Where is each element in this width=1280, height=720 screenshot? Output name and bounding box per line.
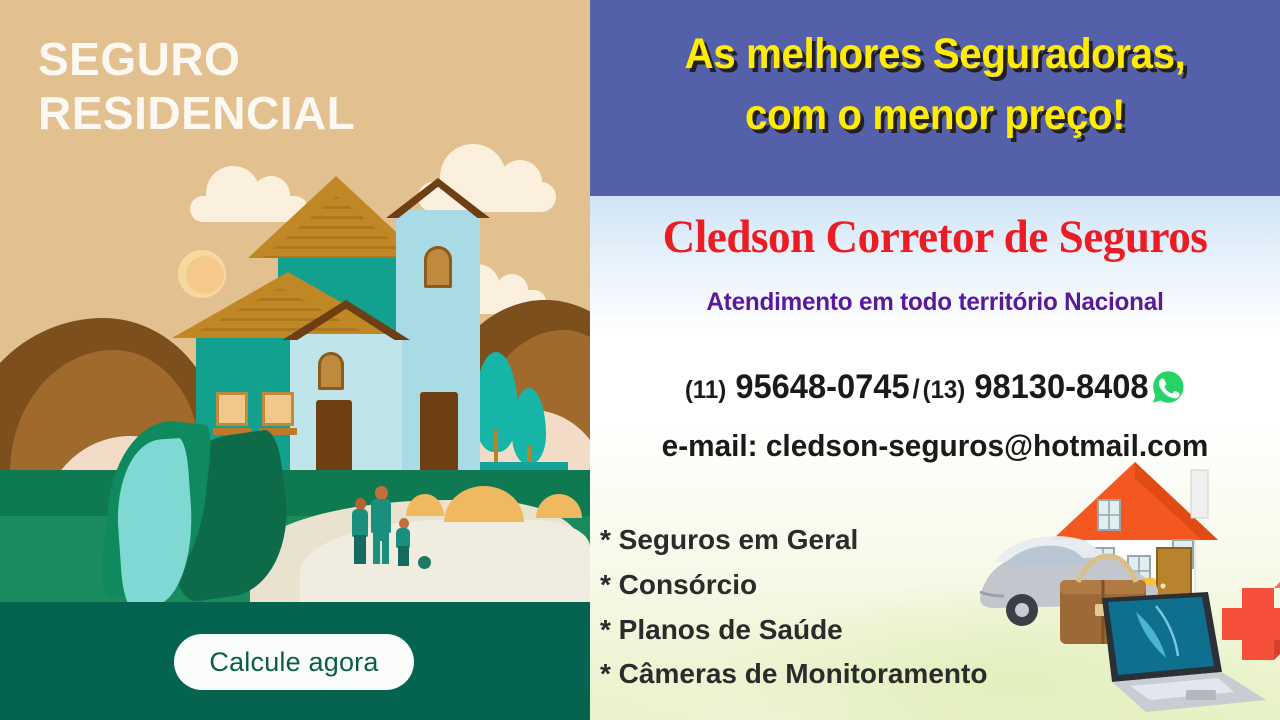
left-panel-headline: SEGURO RESIDENCIAL bbox=[38, 32, 558, 141]
door-icon bbox=[420, 392, 458, 478]
whatsapp-icon[interactable] bbox=[1151, 369, 1186, 405]
window-icon bbox=[262, 392, 294, 426]
window-icon bbox=[216, 392, 248, 426]
email-line[interactable]: e-mail: cledson-seguros@hotmail.com bbox=[604, 428, 1266, 464]
left-promo-panel: SEGURO RESIDENCIAL Calcule agora bbox=[0, 0, 590, 720]
phone2-number: 98130-8408 bbox=[974, 368, 1148, 406]
headline-banner: As melhores Seguradoras, com o menor pre… bbox=[590, 0, 1280, 196]
headline-text: As melhores Seguradoras, com o menor pre… bbox=[611, 24, 1260, 146]
window-icon bbox=[424, 246, 452, 288]
window-icon bbox=[318, 352, 344, 390]
phone2-area-code: (13) bbox=[923, 376, 966, 404]
calcule-agora-button[interactable]: Calcule agora bbox=[174, 634, 414, 690]
email-address: cledson-seguros@hotmail.com bbox=[766, 428, 1208, 463]
service-item: * Seguros em Geral bbox=[600, 518, 987, 563]
phone1-area-code: (11) bbox=[685, 376, 726, 404]
family-person-icon bbox=[368, 486, 394, 564]
phone-numbers[interactable]: (11) 95648-0745/(13) 98130-8408 bbox=[604, 368, 1266, 407]
door-icon bbox=[316, 400, 352, 478]
phone1-number: 95648-0745 bbox=[735, 368, 909, 406]
services-list: * Seguros em Geral * Consórcio * Planos … bbox=[600, 518, 987, 697]
company-name: Cledson Corretor de Seguros bbox=[604, 210, 1266, 264]
family-person-icon bbox=[350, 498, 370, 564]
service-item: * Planos de Saúde bbox=[600, 608, 987, 653]
advertisement-banner: SEGURO RESIDENCIAL Calcule agora As melh… bbox=[0, 0, 1280, 720]
family-person-icon bbox=[395, 518, 412, 566]
phone-separator: / bbox=[910, 374, 923, 404]
email-label: e-mail: bbox=[662, 428, 758, 463]
service-item: * Câmeras de Monitoramento bbox=[600, 652, 987, 697]
ball-icon bbox=[418, 556, 431, 569]
service-item: * Consórcio bbox=[600, 563, 987, 608]
right-info-panel: As melhores Seguradoras, com o menor pre… bbox=[590, 0, 1280, 720]
company-tagline: Atendimento em todo território Nacional bbox=[600, 288, 1269, 317]
